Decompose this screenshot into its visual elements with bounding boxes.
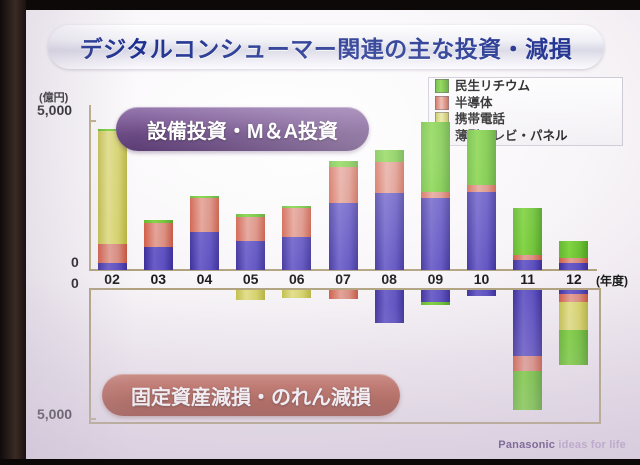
callout-impairment: 固定資産減損・のれん減損 [102,374,400,416]
bar-segment-yellow [559,302,588,329]
bar-segment-pink [282,208,311,237]
x-axis-tick-04: 04 [181,271,227,287]
bar-segment-blue [190,232,219,270]
x-axis-tick-11: 11 [505,271,551,287]
bar-investment-05 [236,214,265,270]
bar-investment-11 [513,208,542,270]
x-axis-tick-09: 09 [412,271,458,287]
x-axis-tick-10: 10 [458,271,504,287]
bar-impairment-09 [421,290,450,305]
x-axis-unit-label: (年度) [596,272,628,289]
bar-investment-10 [467,130,496,270]
x-axis-tick-07: 07 [320,271,366,287]
panasonic-logo: Panasonic ideas for life [498,439,626,451]
bar-segment-blue [513,260,542,270]
bar-segment-green [467,130,496,186]
x-axis-tick-02: 02 [89,271,135,287]
logo-tagline-text: ideas for life [558,439,626,451]
y-axis-top-tick-label: 5,000 [37,102,72,118]
bar-segment-blue [421,198,450,270]
bar-segment-pink [144,223,173,248]
bar-investment-07 [329,161,358,270]
x-axis-tick-12: 12 [551,271,597,287]
legend-swatch-icon [435,79,449,93]
bar-segment-pink [190,198,219,232]
x-axis-tick-08: 08 [366,271,412,287]
y-axis-bottom-tick-label: 5,000 [37,406,72,422]
surround-bottom-edge [0,459,640,465]
bar-segment-green [513,208,542,255]
bar-segment-yellow [282,290,311,298]
bar-impairment-11 [513,290,542,410]
bar-investment-12 [559,241,588,270]
bar-segment-pink [329,167,358,203]
bar-investment-08 [375,150,404,270]
bar-segment-green [421,302,450,305]
bar-segment-yellow [98,131,127,244]
bar-segment-pink [559,294,588,302]
screenshot-root: デジタルコンシューマー関連の主な投資・減損 民生リチウム 半導体 携帯電話 薄型… [0,0,640,465]
bar-impairment-08 [375,290,404,323]
bar-segment-blue [98,263,127,270]
bar-segment-blue [467,290,496,296]
bar-segment-pink [98,244,127,264]
bar-segment-blue [421,290,450,302]
legend-item-lithium: 民生リチウム [429,78,622,95]
bar-segment-pink [513,356,542,371]
presentation-slide: デジタルコンシューマー関連の主な投資・減損 民生リチウム 半導体 携帯電話 薄型… [26,10,640,459]
bar-segment-blue [144,247,173,270]
bar-investment-06 [282,206,311,270]
bar-segment-pink [236,217,265,241]
bar-segment-blue [375,193,404,270]
bar-impairment-07 [329,290,358,299]
bar-segment-blue [513,290,542,356]
bar-segment-green [375,150,404,162]
legend-label: 民生リチウム [455,80,530,93]
bar-segment-blue [559,263,588,271]
slide-title-banner: デジタルコンシューマー関連の主な投資・減損 [48,25,604,69]
bar-impairment-12 [559,290,588,365]
bar-segment-green [559,330,588,365]
bar-impairment-10 [467,290,496,296]
surround-left-edge [0,0,26,465]
bar-segment-blue [467,192,496,270]
callout-investment: 設備投資・M＆A投資 [116,107,369,151]
bar-segment-blue [282,237,311,270]
bar-investment-09 [421,122,450,270]
y-axis-zero-label-lower: 0 [71,275,79,291]
bar-segment-blue [375,290,404,323]
x-axis-tick-03: 03 [135,271,181,287]
x-axis-tick-06: 06 [274,271,320,287]
y-axis-zero-label-upper: 0 [71,254,79,270]
bar-segment-green [513,371,542,410]
bar-segment-green [421,122,450,192]
bar-segment-pink [329,290,358,299]
bar-investment-04 [190,196,219,270]
bar-impairment-06 [282,290,311,298]
bar-segment-green [559,241,588,258]
bar-segment-yellow [236,290,265,300]
bar-segment-pink [375,162,404,193]
x-axis-tick-05: 05 [228,271,274,287]
logo-brand-text: Panasonic [498,439,555,451]
bar-impairment-05 [236,290,265,300]
bar-investment-02 [98,129,127,270]
bar-investment-03 [144,220,173,270]
bar-segment-blue [236,241,265,270]
page-title: デジタルコンシューマー関連の主な投資・減損 [48,25,604,69]
bar-segment-blue [329,203,358,270]
x-axis-tick-labels: 0203040506070809101112 [89,271,597,288]
surround-top-edge [0,0,640,10]
